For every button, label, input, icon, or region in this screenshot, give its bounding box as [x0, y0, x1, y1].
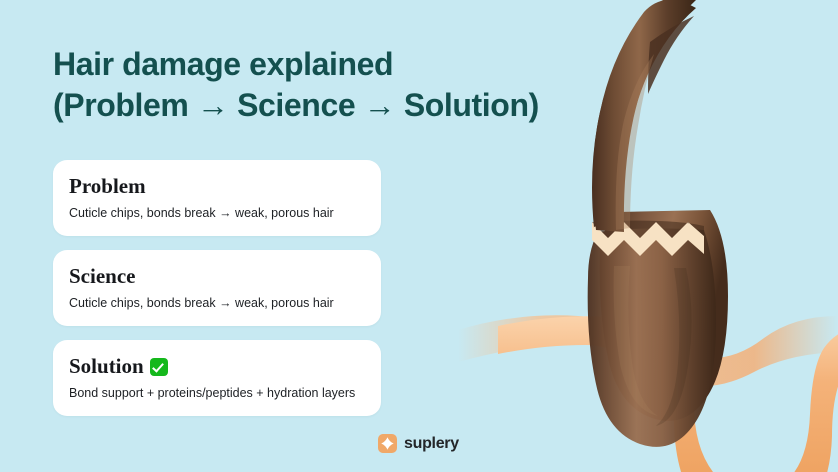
- white-heavy-check-mark-icon: [150, 358, 168, 376]
- card-solution-title-text: Solution: [69, 354, 144, 379]
- card-solution-title: Solution: [69, 354, 365, 379]
- card-solution-description: Bond support + proteins/peptides + hydra…: [69, 385, 365, 401]
- suplery-pinwheel-icon: [378, 434, 397, 453]
- card-problem-title-text: Problem: [69, 174, 146, 199]
- card-problem-title: Problem: [69, 174, 365, 199]
- card-science-description: Cuticle chips, bonds break → weak, porou…: [69, 295, 365, 311]
- card-science-title: Science: [69, 264, 365, 289]
- hair-shaft-tip: [592, 0, 696, 232]
- card-problem-description: Cuticle chips, bonds break → weak, porou…: [69, 205, 365, 221]
- hair-follicle-damage-illustration: [438, 0, 838, 472]
- slide-canvas: Hair damage explained (Problem → Science…: [0, 0, 838, 472]
- card-solution: Solution Bond support + proteins/peptide…: [53, 340, 381, 416]
- card-science-title-text: Science: [69, 264, 135, 289]
- hair-shaft-lower: [588, 228, 716, 446]
- card-problem: Problem Cuticle chips, bonds break → wea…: [53, 160, 381, 236]
- info-card-list: Problem Cuticle chips, bonds break → wea…: [53, 160, 381, 416]
- card-science: Science Cuticle chips, bonds break → wea…: [53, 250, 381, 326]
